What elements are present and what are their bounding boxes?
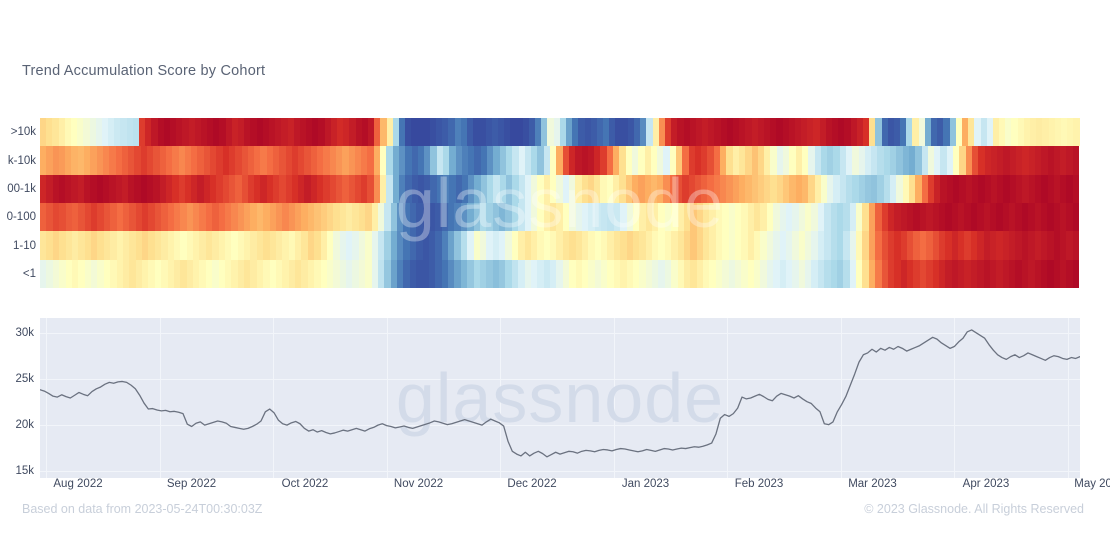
heatmap-y-label: <1 — [0, 268, 36, 280]
heatmap-y-label: k-10k — [0, 155, 36, 167]
price-line-path — [40, 330, 1080, 457]
chart-page: Trend Accumulation Score by Cohort >10kk… — [0, 0, 1110, 550]
line-y-label: 20k — [0, 419, 34, 431]
x-axis-label: Mar 2023 — [848, 478, 897, 490]
heatmap-cell — [1073, 260, 1079, 288]
heatmap-cell — [1073, 231, 1079, 259]
heatmap-row — [40, 146, 1080, 174]
price-line-svg — [40, 318, 1080, 478]
heatmap-cell — [1073, 175, 1079, 203]
heatmap-chart: >10kk-10k00-1k0-1001-10<1 glassnode — [0, 118, 1110, 290]
x-axis-label: Oct 2022 — [282, 478, 329, 490]
line-y-label: 15k — [0, 465, 34, 477]
heatmap-row — [40, 203, 1080, 231]
heatmap-plot-area[interactable]: glassnode — [40, 118, 1080, 288]
line-y-label: 25k — [0, 373, 34, 385]
heatmap-cell — [1073, 146, 1079, 174]
x-axis-label: Jan 2023 — [622, 478, 669, 490]
page-title: Trend Accumulation Score by Cohort — [22, 63, 265, 79]
heatmap-y-label: 1-10 — [0, 240, 36, 252]
x-axis-label: Feb 2023 — [735, 478, 784, 490]
heatmap-row — [40, 231, 1080, 259]
data-timestamp: Based on data from 2023-05-24T00:30:03Z — [22, 502, 262, 516]
x-axis: Aug 2022Sep 2022Oct 2022Nov 2022Dec 2022… — [0, 478, 1110, 498]
heatmap-y-axis: >10kk-10k00-1k0-1001-10<1 — [0, 118, 38, 290]
line-plot-area[interactable]: glassnode — [40, 318, 1080, 478]
x-axis-label: Nov 2022 — [394, 478, 443, 490]
x-axis-label: Apr 2023 — [963, 478, 1010, 490]
x-axis-label: Aug 2022 — [53, 478, 102, 490]
heatmap-row — [40, 118, 1080, 146]
line-y-label: 30k — [0, 327, 34, 339]
heatmap-y-label: 00-1k — [0, 183, 36, 195]
price-line-chart: glassnode — [0, 300, 1110, 490]
heatmap-cell — [1073, 203, 1079, 231]
heatmap-y-label: >10k — [0, 126, 36, 138]
heatmap-cell — [1073, 118, 1079, 146]
copyright-notice: © 2023 Glassnode. All Rights Reserved — [864, 502, 1084, 516]
heatmap-row — [40, 260, 1080, 288]
heatmap-row — [40, 175, 1080, 203]
heatmap-y-label: 0-100 — [0, 211, 36, 223]
x-axis-label: Dec 2022 — [507, 478, 556, 490]
x-axis-label: May 2023 — [1074, 478, 1110, 490]
x-axis-label: Sep 2022 — [167, 478, 216, 490]
